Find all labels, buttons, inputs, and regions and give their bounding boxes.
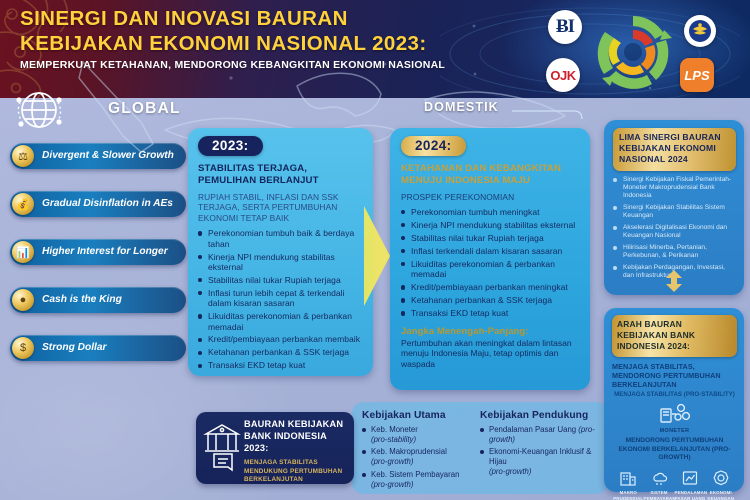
ojk-logo-glyph: OJK	[550, 68, 575, 83]
pillar-sistem-pembayaran: SISTEM PEMBAYARAN	[644, 467, 675, 500]
list-item: Keb. Moneter (pro-stability)	[362, 425, 480, 444]
kemenkeu-logo	[684, 15, 716, 47]
domestik-label: DOMESTIK	[424, 100, 499, 114]
bi-logo-glyph: ɃI	[556, 16, 574, 38]
lps-logo-glyph: LPS	[684, 68, 709, 83]
list-item: Stabilitas nilai tukar Rupiah terjaga	[401, 233, 580, 243]
global-item-2-label: Higher Interest for Longer	[42, 247, 174, 258]
panel-2023: 2023: STABILITAS TERJAGA, PEMULIHAN BERL…	[188, 128, 373, 376]
pillar-makroprudensial: MAKRO PRUDENSIAL	[613, 467, 644, 500]
panel-2024: 2024: KETAHANAN DAN KEBANGKITAN MENUJU I…	[390, 128, 590, 390]
list-item: Perekonomian tumbuh baik & berdaya tahan	[198, 228, 364, 249]
payment-cloud-icon	[644, 467, 675, 489]
pillar-0-label: MAKRO PRUDENSIAL	[613, 490, 644, 500]
list-item: Inflasi terkendali dalam kisaran sasaran	[401, 246, 580, 256]
globe-network-icon	[12, 86, 66, 136]
global-item-4[interactable]: $ Strong Dollar	[10, 335, 186, 361]
list-item: Transaksi EKD tetap kuat	[401, 308, 580, 318]
arah-bauran-sub2: MENJAGA STABILITAS (PRO-STABILITY)	[612, 391, 737, 399]
arah-bauran-pillars: MAKRO PRUDENSIAL SISTEM PEMBAYARAN	[612, 467, 737, 500]
item-tag: (pro-growth)	[371, 457, 413, 466]
list-item: Kinerja NPI mendukung stabilitas ekstern…	[198, 252, 364, 273]
lps-logo: LPS	[680, 58, 714, 92]
pillar-1-label: SISTEM PEMBAYARAN	[644, 490, 675, 500]
double-arrow-icon	[663, 269, 685, 293]
kemenkeu-emblem-icon	[688, 19, 712, 43]
list-item: Sinergi Kebijakan Fiskal Pemerintah-Mone…	[613, 176, 736, 200]
panel-2023-subheading: RUPIAH STABIL, INFLASI DAN SSK TERJAGA, …	[198, 192, 364, 224]
panel-2023-heading: STABILITAS TERJAGA, PEMULIHAN BERLANJUT	[198, 163, 364, 188]
list-item: Pendalaman Pasar Uang (pro-growth)	[480, 425, 598, 444]
item-text: Keb. Moneter	[371, 425, 418, 434]
progression-arrow-icon	[364, 196, 394, 316]
panel-2024-heading: KETAHANAN DAN KEBANGKITAN MENUJU INDONES…	[401, 163, 580, 188]
list-item: Perekonomian tumbuh meningkat	[401, 207, 580, 217]
item-text: Keb. Makroprudensial	[371, 447, 447, 456]
kebijakan-utama-column: Kebijakan Utama Keb. Moneter (pro-stabil…	[362, 410, 480, 492]
list-item: Kredit/pembiayaan perbankan meningkat	[401, 282, 580, 292]
kebijakan-utama-heading: Kebijakan Utama	[362, 410, 480, 421]
dollar-coin-icon: $	[12, 337, 34, 359]
panel-2024-midterm-title: Jangka Menengah-Panjang:	[401, 325, 580, 336]
ojk-logo: OJK	[546, 58, 580, 92]
list-item: Kinerja NPI mendukung stabilitas ekstern…	[401, 220, 580, 230]
title-subtitle: MEMPERKUAT KETAHANAN, MENDORONG KEBANGKI…	[20, 59, 445, 71]
badge-2023: 2023:	[198, 136, 263, 156]
list-item: Sinergi Kebijakan Stabilitas Sistem Keua…	[613, 204, 736, 220]
global-section-header: GLOBAL	[8, 88, 193, 134]
global-item-3-label: Cash is the King	[42, 295, 128, 306]
bi-box-title: BAURAN KEBIJAKAN BANK INDONESIA 2023:	[244, 419, 346, 455]
panel-2023-bullets: Perekonomian tumbuh baik & berdaya tahan…	[198, 228, 364, 370]
item-tag: (pro-stability)	[371, 435, 416, 444]
global-item-1[interactable]: 💰 Gradual Disinflation in AEs	[10, 191, 186, 217]
list-item: Hilirisasi Minerba, Pertanian, Perkebuna…	[613, 244, 736, 260]
item-tag: (pro-growth)	[489, 467, 531, 476]
global-item-1-label: Gradual Disinflation in AEs	[42, 199, 179, 210]
bar-chart-coin-icon: 📊	[12, 241, 34, 263]
arah-bauran-heading: ARAH BAURAN KEBIJAKAN BANK INDONESIA 202…	[612, 315, 737, 357]
domestik-line-decoration	[512, 107, 586, 121]
arah-bauran-sub1: MENJAGA STABILITAS, MENDORONG PERTUMBUHA…	[612, 362, 737, 390]
bank-document-icon	[202, 420, 242, 472]
list-item: Stabilitas nilai tukar Rupiah terjaga	[198, 275, 364, 285]
list-item: Kredit/pembiayaan perbankan membaik	[198, 334, 364, 344]
list-item: Transaksi EKD tetap kuat	[198, 360, 364, 370]
bank-building-icon	[613, 467, 644, 489]
bauran-kebijakan-bi-box: BAURAN KEBIJAKAN BANK INDONESIA 2023: ME…	[196, 412, 354, 484]
pillar-3-label: EKONOMI KEUANGAN INKLUSIF & HIJAU	[706, 490, 737, 500]
global-item-4-label: Strong Dollar	[42, 343, 113, 354]
pillar-2-label: PENDALAMAN PASAR UANG	[675, 490, 706, 500]
item-text: Ekonomi-Keuangan Inklusif & Hijau	[489, 447, 591, 466]
global-item-3[interactable]: ● Cash is the King	[10, 287, 186, 313]
cash-stack-icon: ●	[12, 289, 34, 311]
market-chart-icon	[675, 467, 706, 489]
list-item: Keb. Sistem Pembayaran (pro-growth)	[362, 470, 480, 489]
kebijakan-pendukung-list: Pendalaman Pasar Uang (pro-growth) Ekono…	[480, 425, 598, 477]
panel-2024-bullets: Perekonomian tumbuh meningkat Kinerja NP…	[401, 207, 580, 318]
kebijakan-utama-list: Keb. Moneter (pro-stability) Keb. Makrop…	[362, 425, 480, 489]
list-item: Likuiditas perekonomian & perbankan mema…	[198, 311, 364, 332]
item-tag: (pro-growth)	[371, 480, 413, 489]
list-item: Inflasi turun lebih cepat & terkendali d…	[198, 288, 364, 309]
list-item: Ekonomi-Keuangan Inklusif & Hijau (pro-g…	[480, 447, 598, 476]
item-text: Keb. Sistem Pembayaran	[371, 470, 459, 479]
list-item: Keb. Makroprudensial (pro-growth)	[362, 447, 480, 466]
list-item: Likuiditas perekonomian & perbankan mema…	[401, 259, 580, 280]
badge-2024: 2024:	[401, 136, 466, 156]
list-item: Akselerasi Digitalisasi Ekonomi dan Keua…	[613, 224, 736, 240]
monetary-policy-icon	[658, 401, 692, 425]
page-title: SINERGI DAN INOVASI BAURAN KEBIJAKAN EKO…	[20, 6, 445, 71]
policy-cycle-diagram-icon	[590, 10, 676, 94]
bi-box-subtitle: MENJAGA STABILITAS MENDUKUNG PERTUMBUHAN…	[244, 459, 346, 485]
kebijakan-pendukung-column: Kebijakan Pendukung Pendalaman Pasar Uan…	[480, 410, 598, 480]
global-label: GLOBAL	[108, 100, 181, 118]
compass-icon: ⚖	[12, 145, 34, 167]
lima-sinergi-heading: LIMA SINERGI BAURAN KEBIJAKAN EKONOMI NA…	[613, 128, 736, 171]
institution-logos: ɃI OJK LPS	[528, 2, 746, 98]
green-finance-icon	[706, 467, 737, 489]
title-line-2: KEBIJAKAN EKONOMI NASIONAL 2023:	[20, 31, 445, 56]
arah-bauran-middle-label: MONETER	[612, 428, 737, 434]
arah-bauran-sub3: MENDORONG PERTUMBUHAN EKONOMI BERKELANJU…	[612, 437, 737, 462]
coins-down-icon: 💰	[12, 193, 34, 215]
list-item: Ketahanan perbankan & SSK terjaga	[401, 295, 580, 305]
panel-2024-subheading: PROSPEK PEREKONOMIAN	[401, 192, 580, 203]
lima-sinergi-list: Sinergi Kebijakan Fiskal Pemerintah-Mone…	[613, 176, 736, 280]
panel-2024-midterm-body: Pertumbuhan akan meningkat dalam lintasa…	[401, 338, 580, 370]
bank-indonesia-logo: ɃI	[548, 10, 582, 44]
pillar-pendalaman-pasar-uang: PENDALAMAN PASAR UANG	[675, 467, 706, 500]
pillar-ekonomi-keuangan-inklusif: EKONOMI KEUANGAN INKLUSIF & HIJAU	[706, 467, 737, 500]
item-text: Pendalaman Pasar Uang	[489, 425, 576, 434]
global-item-2[interactable]: 📊 Higher Interest for Longer	[10, 239, 186, 265]
panel-arah-bauran: ARAH BAURAN KEBIJAKAN BANK INDONESIA 202…	[604, 308, 744, 492]
title-line-1: SINERGI DAN INOVASI BAURAN	[20, 6, 445, 31]
kebijakan-pendukung-heading: Kebijakan Pendukung	[480, 410, 598, 421]
panel-lima-sinergi: LIMA SINERGI BAURAN KEBIJAKAN EKONOMI NA…	[604, 120, 744, 295]
list-item: Ketahanan perbankan & SSK terjaga	[198, 347, 364, 357]
